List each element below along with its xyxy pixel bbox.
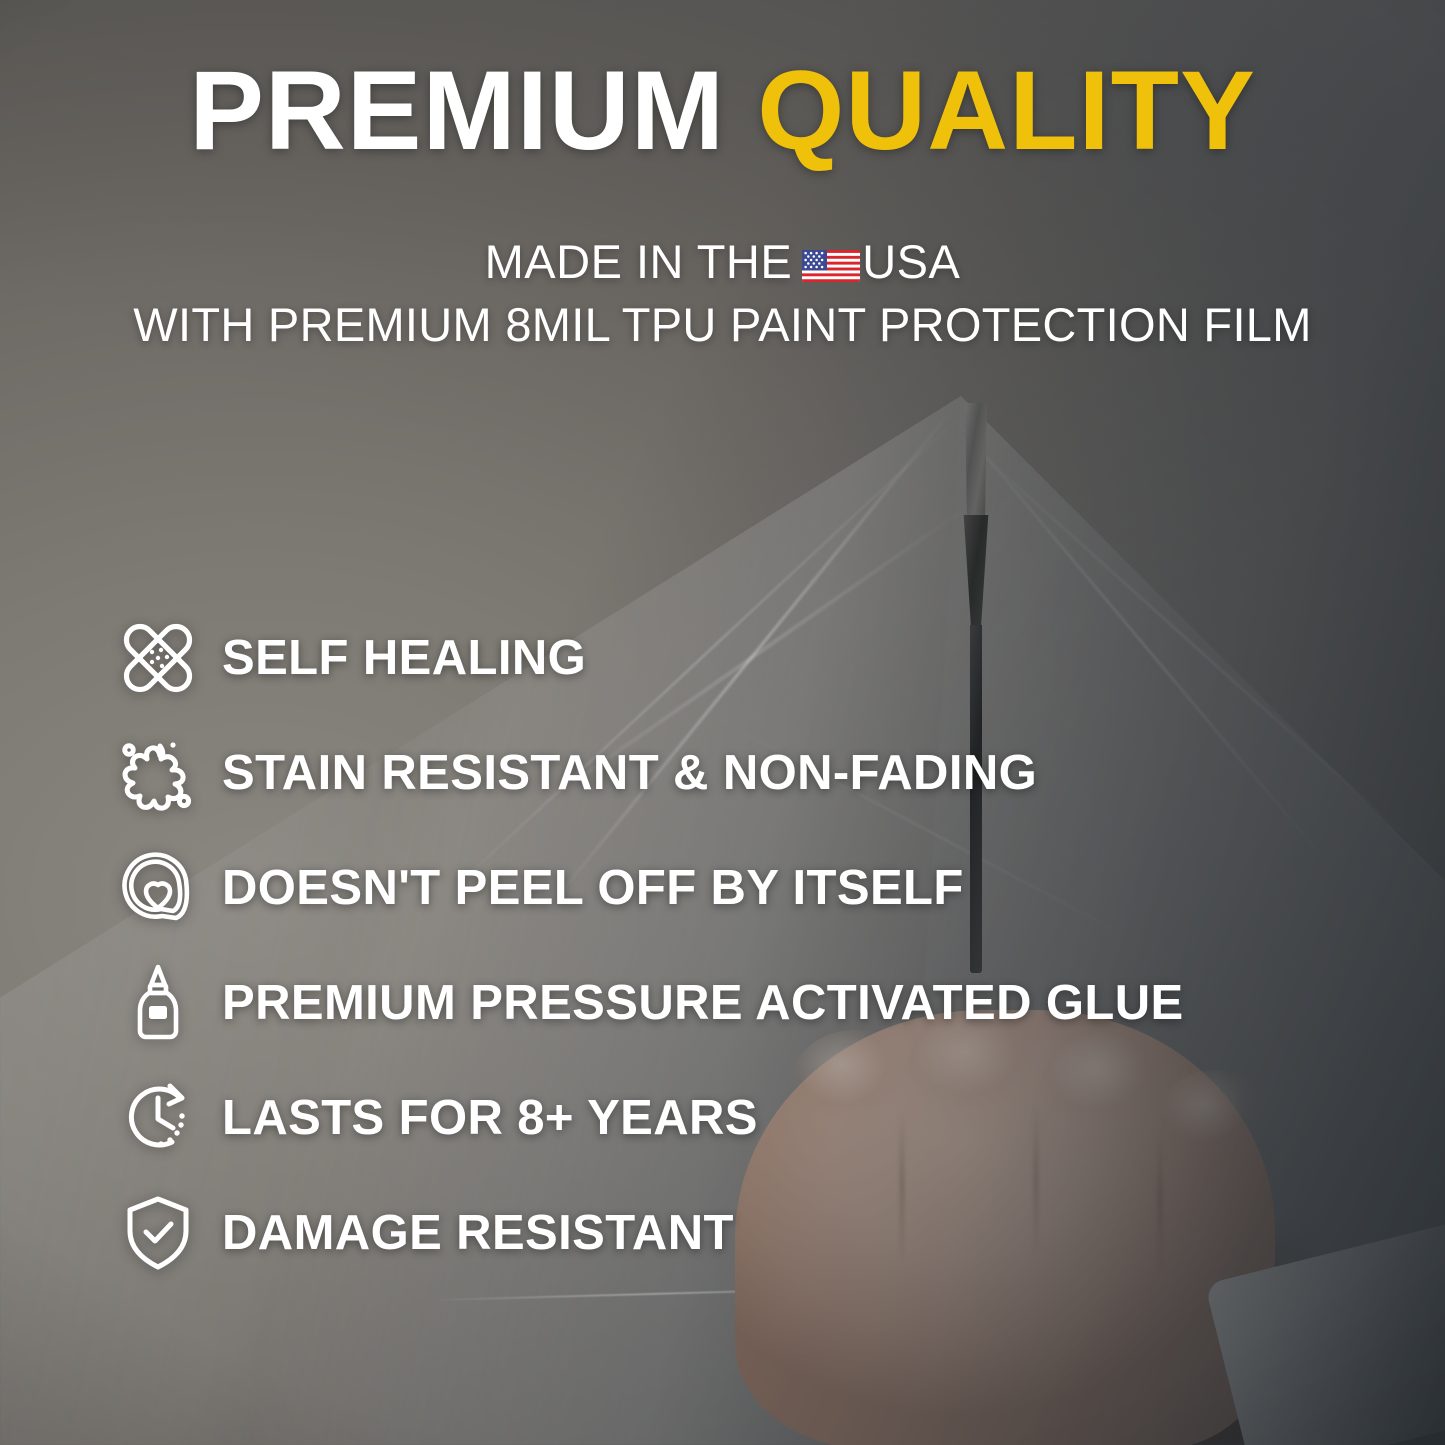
- feature-label: LASTS FOR 8+ YEARS: [222, 1090, 758, 1146]
- product-feature-poster: PREMIUM QUALITY MADE IN THEUSA WITH PREM…: [0, 0, 1445, 1445]
- us-flag-icon: [802, 244, 860, 282]
- poster-headline: PREMIUM QUALITY: [0, 55, 1445, 167]
- feature-row-damage-resistant: DAMAGE RESISTANT: [112, 1175, 1312, 1290]
- crossed-bandages-icon: [112, 612, 204, 704]
- glue-bottle-icon: [112, 957, 204, 1049]
- headline-word-premium: PREMIUM: [189, 48, 725, 173]
- subheadline-line1-suffix: USA: [862, 235, 960, 288]
- headline-word-quality: QUALITY: [757, 48, 1256, 173]
- feature-row-glue: PREMIUM PRESSURE ACTIVATED GLUE: [112, 945, 1312, 1060]
- clock-duration-icon: [112, 1072, 204, 1164]
- subheadline-line1-prefix: MADE IN THE: [485, 235, 793, 288]
- feature-list: SELF HEALING STAIN RESISTANT & NON-FADIN…: [112, 600, 1312, 1290]
- feature-label: STAIN RESISTANT & NON-FADING: [222, 745, 1037, 801]
- feature-label: PREMIUM PRESSURE ACTIVATED GLUE: [222, 975, 1184, 1031]
- subheadline-made-in-usa: MADE IN THEUSA: [0, 234, 1445, 289]
- feature-label: DOESN'T PEEL OFF BY ITSELF: [222, 860, 964, 916]
- feature-label: DAMAGE RESISTANT: [222, 1205, 734, 1261]
- feature-row-no-peel: DOESN'T PEEL OFF BY ITSELF: [112, 830, 1312, 945]
- heart-sticker-icon: [112, 842, 204, 934]
- feature-label: SELF HEALING: [222, 630, 586, 686]
- stain-splatter-icon: [112, 727, 204, 819]
- feature-row-self-healing: SELF HEALING: [112, 600, 1312, 715]
- feature-row-lifespan: LASTS FOR 8+ YEARS: [112, 1060, 1312, 1175]
- feature-row-stain-resistant: STAIN RESISTANT & NON-FADING: [112, 715, 1312, 830]
- subheadline-film-spec: WITH PREMIUM 8MIL TPU PAINT PROTECTION F…: [0, 297, 1445, 352]
- shield-check-icon: [112, 1187, 204, 1279]
